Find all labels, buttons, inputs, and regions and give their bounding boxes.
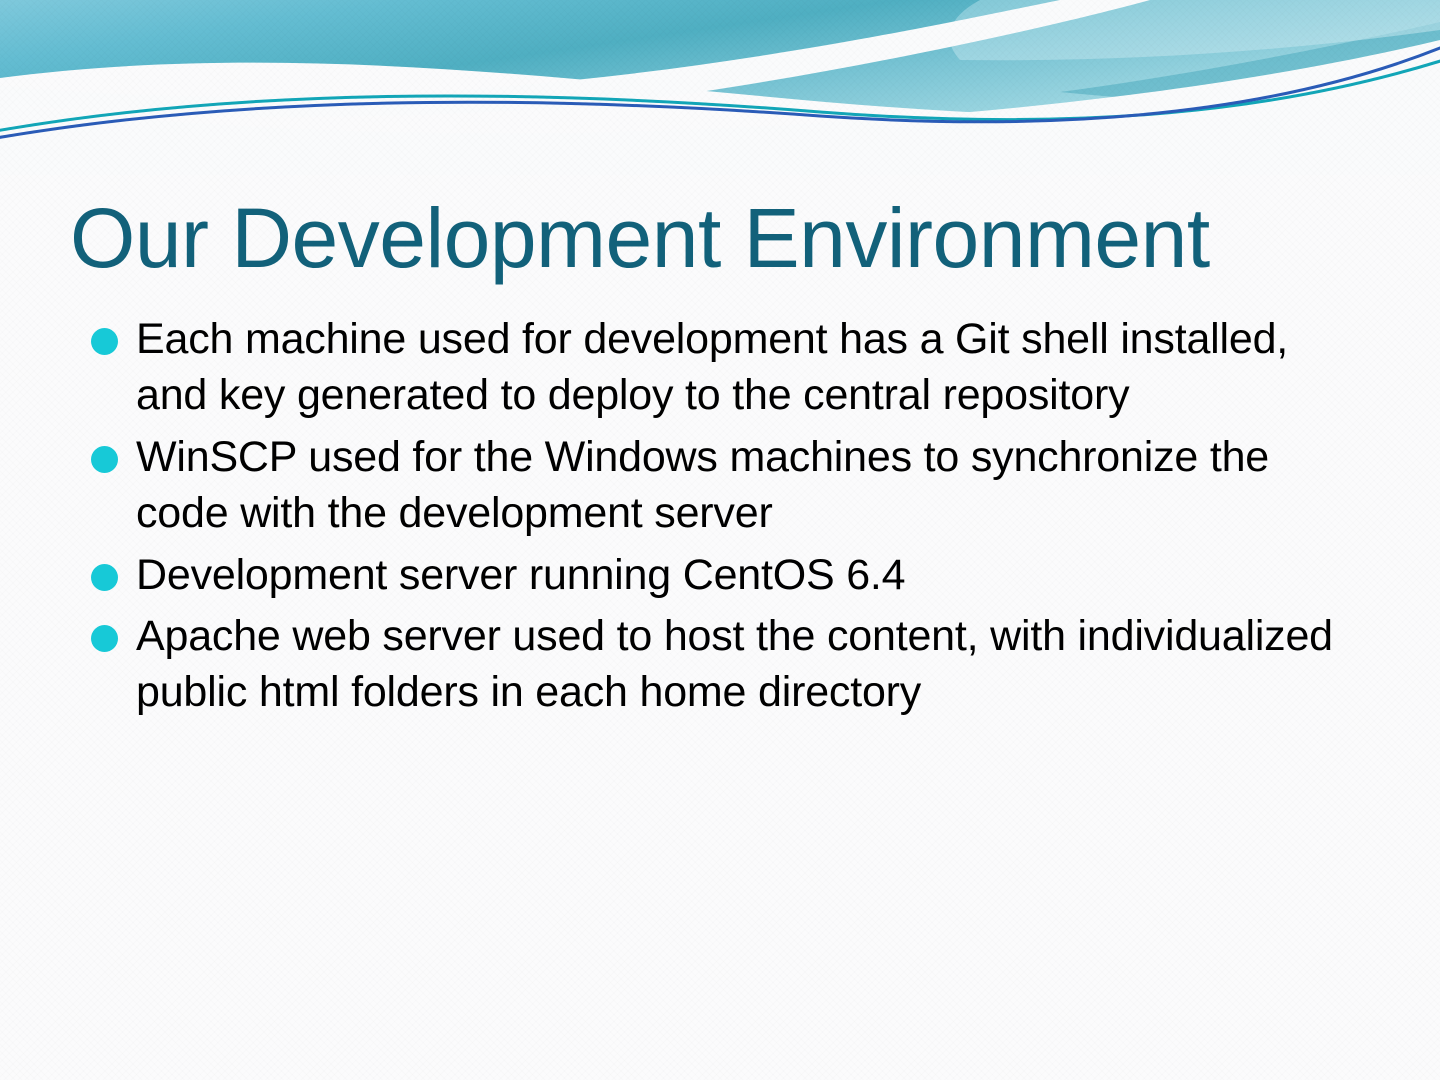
- bullet-text: Each machine used for development has a …: [136, 312, 1336, 424]
- bullet-item: Each machine used for development has a …: [86, 312, 1336, 424]
- bullet-item: Development server running CentOS 6.4: [86, 548, 1336, 604]
- bullet-text: Development server running CentOS 6.4: [136, 548, 1336, 604]
- bullet-text: Apache web server used to host the conte…: [136, 609, 1336, 721]
- bullet-list: Each machine used for development has a …: [86, 312, 1336, 727]
- circle-bullet-icon: [91, 625, 118, 652]
- circle-bullet-icon: [91, 446, 118, 473]
- bullet-text: WinSCP used for the Windows machines to …: [136, 430, 1336, 542]
- slide-title: Our Development Environment: [70, 196, 1390, 280]
- circle-bullet-icon: [91, 328, 118, 355]
- circle-bullet-icon: [91, 564, 118, 591]
- bullet-item: Apache web server used to host the conte…: [86, 609, 1336, 721]
- bullet-item: WinSCP used for the Windows machines to …: [86, 430, 1336, 542]
- teal-wave-banner-icon: [0, 0, 1440, 175]
- slide-canvas: Our Development Environment Each machine…: [0, 0, 1440, 1080]
